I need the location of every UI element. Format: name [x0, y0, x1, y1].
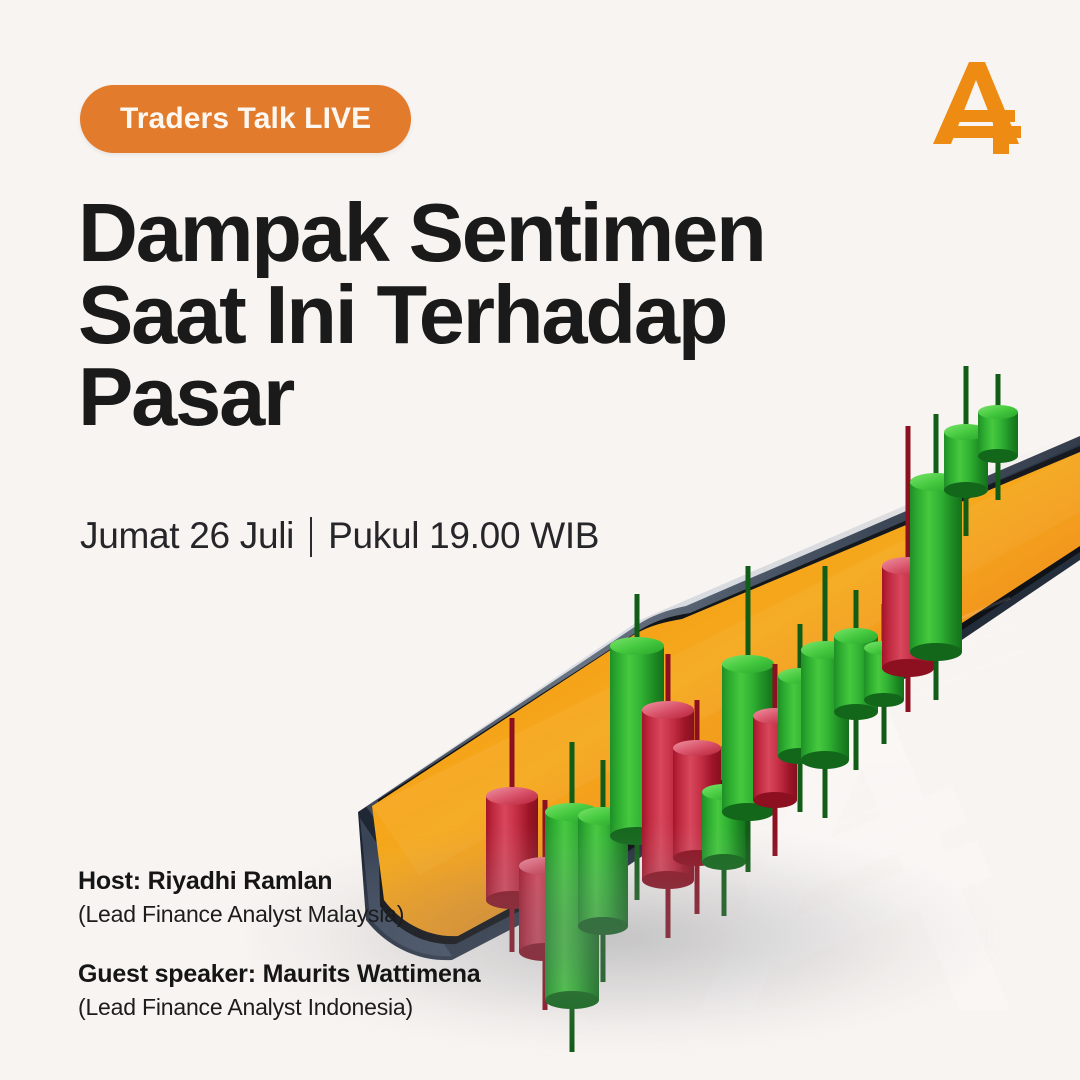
schedule-separator	[310, 517, 312, 557]
schedule-line: Jumat 26 Juli Pukul 19.00 WIB	[80, 515, 599, 557]
traders-talk-live-badge[interactable]: Traders Talk LIVE	[80, 85, 411, 153]
credit-guest-speaker: Guest speaker: Maurits Wattimena (Lead F…	[78, 959, 481, 1022]
schedule-time: Pukul 19.00 WIB	[328, 515, 599, 557]
guest-speaker-role: (Lead Finance Analyst Indonesia)	[78, 993, 481, 1023]
credits-block: Host: Riyadhi Ramlan (Lead Finance Analy…	[78, 866, 481, 1023]
brand-a-logo-icon	[929, 58, 1025, 158]
guest-speaker-name: Guest speaker: Maurits Wattimena	[78, 959, 481, 990]
headline-line-1: Dampak Sentimen	[78, 192, 838, 274]
headline-line-2: Saat Ini Terhadap	[78, 274, 838, 356]
page-title: Dampak Sentimen Saat Ini Terhadap Pasar	[78, 192, 838, 438]
host-name: Host: Riyadhi Ramlan	[78, 866, 481, 897]
schedule-date: Jumat 26 Juli	[80, 515, 294, 557]
badge-label: Traders Talk LIVE	[120, 104, 371, 134]
host-role: (Lead Finance Analyst Malaysia)	[78, 900, 481, 930]
credit-host: Host: Riyadhi Ramlan (Lead Finance Analy…	[78, 866, 481, 929]
headline-line-3: Pasar	[78, 356, 838, 438]
poster-root: Traders Talk LIVE Dampak Sentimen Saat I…	[0, 0, 1080, 1080]
